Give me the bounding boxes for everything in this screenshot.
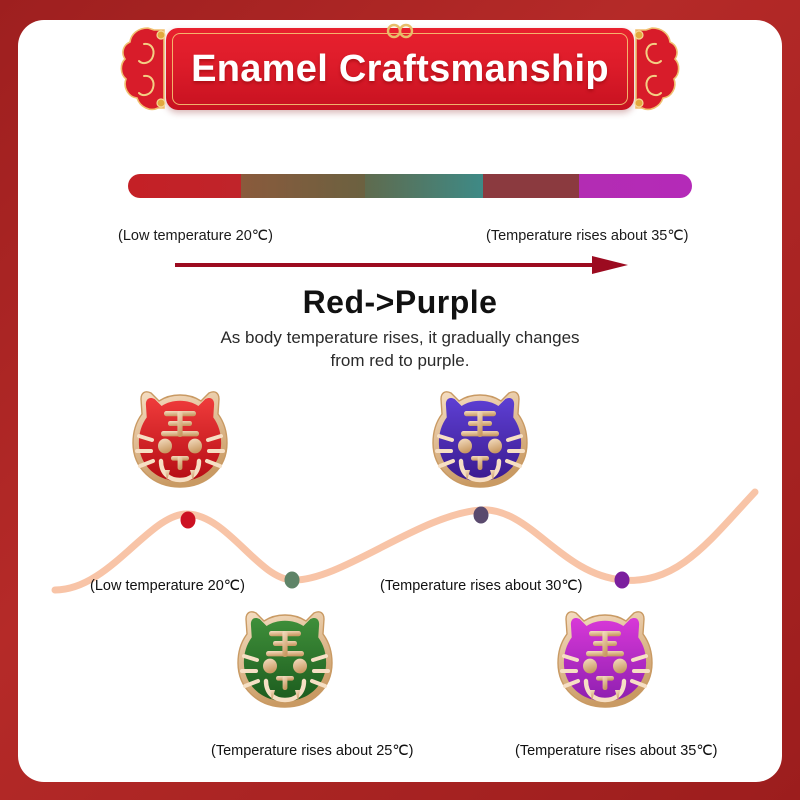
tiger-pin-green [233, 608, 337, 716]
temperature-arrow-shaft [175, 263, 595, 267]
tiger-pin-red [128, 388, 232, 496]
headline-description: As body temperature rises, it gradually … [0, 326, 800, 373]
wave-label-35c: (Temperature rises about 35℃) [515, 743, 717, 759]
dot-purple [474, 507, 489, 524]
dot-red [181, 512, 196, 529]
tiger-pin-magenta-art [553, 608, 657, 716]
purple-segment [579, 174, 692, 198]
dot-magenta [615, 572, 630, 589]
page-title: Enamel Craftsmanship [191, 48, 609, 91]
banner-cloud-ornament-left [120, 22, 194, 116]
scale-low-label: (Low temperature 20℃) [118, 228, 273, 244]
darkred-segment [483, 174, 579, 198]
wave-label-30c: (Temperature rises about 30℃) [380, 578, 582, 594]
tiger-pin-green-art [233, 608, 337, 716]
tiger-pin-purple-art [428, 388, 532, 496]
dot-green [285, 572, 300, 589]
headline-title: Red->Purple [0, 284, 800, 321]
banner-knot-icon [383, 23, 417, 39]
banner-cloud-ornament-right [606, 22, 680, 116]
tiger-pin-red-art [128, 388, 232, 496]
wave-curve [55, 492, 755, 590]
description-line-2: from red to purple. [0, 349, 800, 372]
teal-segment [365, 174, 483, 198]
title-banner: Enamel Craftsmanship [0, 22, 800, 116]
temperature-gradient-bar [128, 174, 692, 198]
wave-data-points [181, 507, 630, 589]
wave-label-20c: (Low temperature 20℃) [90, 578, 245, 594]
tiger-pin-purple [428, 388, 532, 496]
description-line-1: As body temperature rises, it gradually … [0, 326, 800, 349]
wave-label-25c: (Temperature rises about 25℃) [211, 743, 413, 759]
scale-high-label: (Temperature rises about 35℃) [486, 228, 688, 244]
infographic-root: Enamel Craftsmanship (Low temperature 20… [0, 0, 800, 800]
temperature-arrow-head [592, 256, 628, 274]
brown-segment [241, 174, 365, 198]
red-segment [128, 174, 241, 198]
tiger-pin-magenta [553, 608, 657, 716]
